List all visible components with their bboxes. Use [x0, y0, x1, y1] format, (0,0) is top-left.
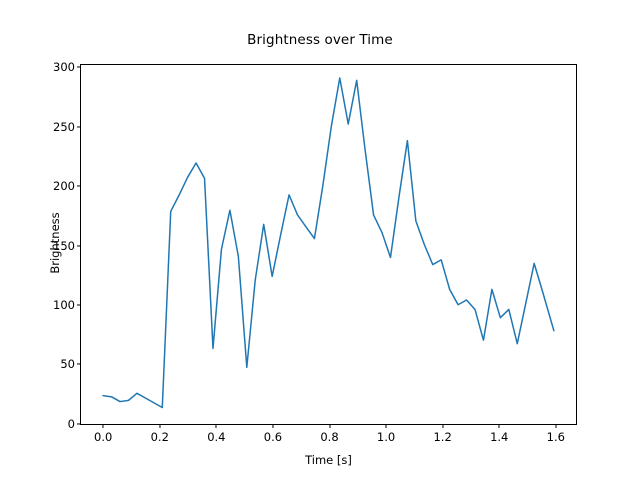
- x-tick-mark: [442, 424, 443, 428]
- x-tick-mark: [329, 424, 330, 428]
- x-tick-mark: [272, 424, 273, 428]
- y-tick-label: 300: [53, 60, 75, 74]
- x-tick-label: 0.4: [207, 430, 225, 444]
- x-tick-mark: [555, 424, 556, 428]
- x-tick-mark: [216, 424, 217, 428]
- y-tick-label: 150: [53, 239, 75, 253]
- y-tick-label: 100: [53, 298, 75, 312]
- y-tick-label: 200: [53, 179, 75, 193]
- x-tick-label: 1.4: [490, 430, 508, 444]
- x-tick-label: 0.6: [264, 430, 282, 444]
- x-tick-label: 1.2: [433, 430, 451, 444]
- y-tick-label: 50: [60, 357, 75, 371]
- matplotlib-figure: Brightness over Time Brightness Time [s]…: [0, 0, 640, 480]
- x-tick-label: 0.8: [320, 430, 338, 444]
- x-tick-mark: [386, 424, 387, 428]
- x-tick-label: 1.0: [377, 430, 395, 444]
- x-tick-mark: [499, 424, 500, 428]
- chart-title: Brightness over Time: [0, 32, 640, 48]
- brightness-line: [103, 78, 554, 407]
- x-tick-mark: [103, 424, 104, 428]
- y-tick-label: 0: [68, 417, 75, 431]
- plot-axes-area: Brightness Time [s] 050100150200250300 0…: [80, 64, 577, 425]
- x-tick-label: 1.6: [547, 430, 565, 444]
- x-tick-label: 0.2: [151, 430, 169, 444]
- x-tick-label: 0.0: [94, 430, 112, 444]
- x-tick-mark: [159, 424, 160, 428]
- y-tick-label: 250: [53, 120, 75, 134]
- series-plot: [81, 65, 576, 424]
- x-axis-label: Time [s]: [305, 453, 352, 467]
